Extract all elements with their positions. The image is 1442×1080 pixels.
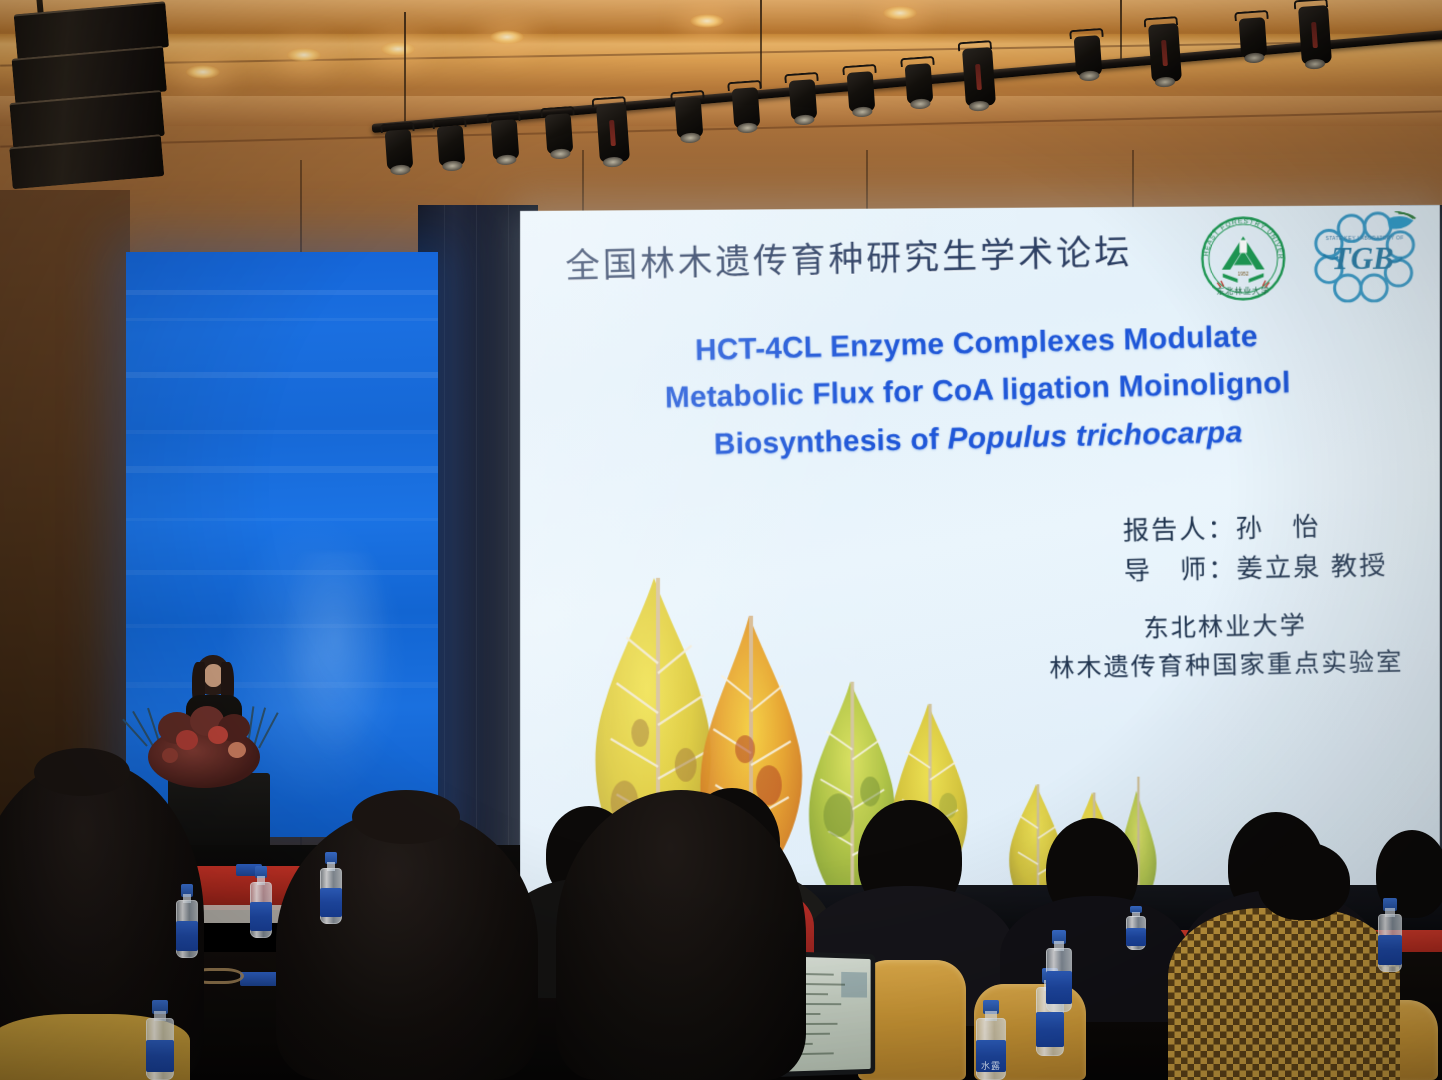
truss-drop-1 <box>404 12 406 122</box>
water-bottle-6 <box>1046 930 1072 1012</box>
water-bottle-9 <box>1126 906 1146 950</box>
water-bottle-3 <box>320 852 342 924</box>
stage-light-2 <box>437 125 466 167</box>
foreground-hair-bun-far-left <box>34 748 130 796</box>
stage-light-11 <box>962 47 996 107</box>
slide-header-title: 全国林木遗传育种研究生学术论坛 <box>565 223 1163 289</box>
truss-drop-3 <box>1120 0 1122 60</box>
nefu-logo: NORTHEAST FORESTRY UNIVERSITY 1952 东北林业大… <box>1197 212 1290 305</box>
slide-logos: NORTHEAST FORESTRY UNIVERSITY 1952 东北林业大… <box>1197 211 1422 313</box>
foreground-head-left <box>276 808 538 1080</box>
svg-text:STATE KEY LABORATORY OF: STATE KEY LABORATORY OF <box>1326 235 1404 242</box>
truss-drop-2 <box>760 0 762 88</box>
line-array-speaker <box>0 0 184 181</box>
stage-light-4 <box>545 113 574 155</box>
slide-title-block: HCT-4CL Enzyme Complexes Modulate Metabo… <box>520 308 1440 472</box>
downlight-3 <box>490 30 524 44</box>
downlight-5 <box>381 42 415 56</box>
audience-houndstooth-jacket <box>1168 908 1400 1080</box>
stage-light-7 <box>732 87 761 129</box>
foreground-head-center <box>556 790 806 1080</box>
bottle-brand-label: 水露 <box>976 1040 1006 1072</box>
stage-light-12 <box>1074 35 1103 77</box>
stage-light-15 <box>1298 5 1332 65</box>
downlight-1 <box>186 65 220 79</box>
stage-light-8 <box>789 79 818 121</box>
stage-light-14 <box>1239 17 1268 59</box>
stage-light-1 <box>385 129 414 171</box>
presenter-name-line: 报告人：孙 怡 <box>1122 505 1387 551</box>
water-bottle-4 <box>146 1000 174 1080</box>
conference-photo-scene: 全国林木遗传育种研究生学术论坛 NORTHEAST FORESTRY UNIVE… <box>0 0 1442 1080</box>
stage-light-3 <box>491 119 520 161</box>
foreground-hair-bun-left <box>352 790 460 844</box>
stage-light-13 <box>1148 23 1182 83</box>
svg-text:1952: 1952 <box>1238 271 1249 277</box>
flower-bouquet <box>140 700 272 792</box>
water-bottle-7: 水露 <box>976 1000 1006 1080</box>
downlight-2 <box>287 48 321 62</box>
laptop-doc-panel <box>841 972 867 998</box>
stage-light-9 <box>847 71 876 113</box>
led-graphic-watermark <box>276 552 396 772</box>
water-bottle-1 <box>176 884 198 958</box>
svg-text:东北林业大学: 东北林业大学 <box>1217 285 1270 295</box>
water-bottle-8 <box>1378 898 1402 972</box>
downlight-4 <box>690 14 724 28</box>
svg-text:TGB: TGB <box>1332 242 1394 277</box>
stage-light-5 <box>596 103 630 163</box>
tgb-logo: STATE KEY LABORATORY OF TGB <box>1308 211 1422 312</box>
stage-light-6 <box>675 97 704 139</box>
water-bottle-2 <box>250 866 272 938</box>
stage-light-10 <box>905 63 934 105</box>
audience-head-houndstooth <box>1258 842 1350 920</box>
downlight-7 <box>883 6 917 20</box>
